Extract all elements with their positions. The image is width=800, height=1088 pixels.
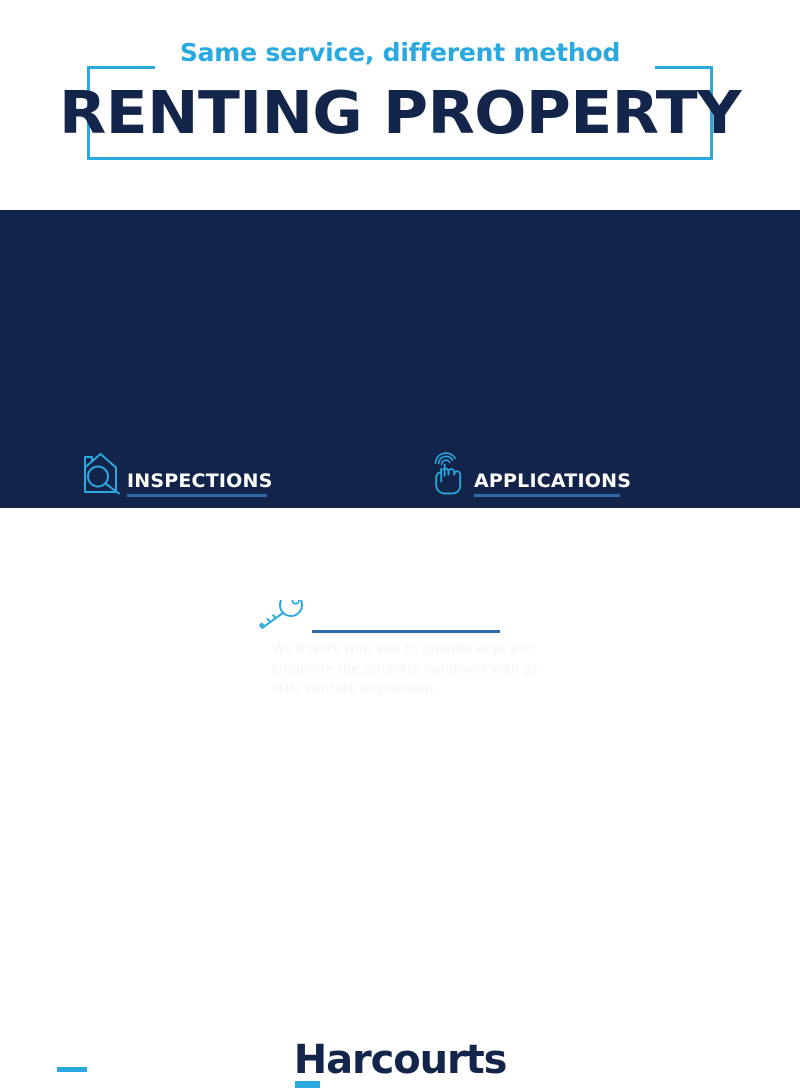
header-eyebrow-text: Same service, different method [0,38,800,67]
header-section: Same service, different method RENTING P… [0,0,800,210]
hand-tap-icon [428,448,470,501]
feature-heading-inspections: INSPECTIONS [80,448,410,500]
brand-logo: Harcourts [0,1038,800,1082]
feature-underline-applications [474,494,620,497]
feature-title-applications: APPLICATIONS [474,470,631,492]
brand-wordmark-text: Harcourts [294,1037,507,1083]
footer-section: Harcourts [0,508,800,600]
renting-property-infographic: Same service, different method RENTING P… [0,0,800,600]
feature-title-inspections: INSPECTIONS [127,470,272,492]
feature-block-applications: APPLICATIONS Online forms and sign-on-gl… [428,448,728,500]
feature-block-inspections: INSPECTIONS View the property virtually … [80,448,410,500]
feature-body-keys: We’ll work with you to provide keys and … [272,640,542,700]
house-magnifier-icon [80,448,124,501]
page-title: RENTING PROPERTY [0,82,800,144]
feature-underline-keys [312,630,500,633]
feature-band: INSPECTIONS View the property virtually … [0,210,800,508]
feature-heading-applications: APPLICATIONS [428,448,728,500]
brand-accent-bar [295,1081,320,1088]
brand-wordmark: Harcourts [294,1038,507,1082]
feature-underline-inspections [127,494,267,497]
feature-title-keys: KEYS & HANDOVER [312,606,520,628]
